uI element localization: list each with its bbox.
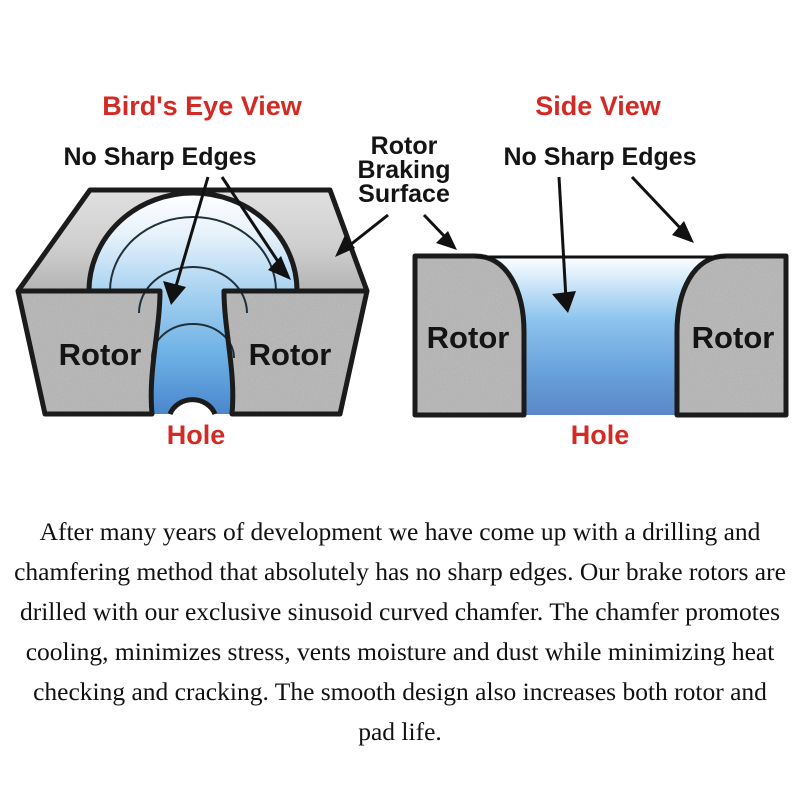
rotor-braking-surface-line3: Surface (358, 180, 450, 208)
left-rotor-label-right: Rotor (249, 337, 332, 372)
left-view-title: Bird's Eye View (102, 91, 303, 121)
right-rotor-label-right: Rotor (692, 320, 775, 355)
left-no-sharp-edges-label: No Sharp Edges (63, 143, 256, 171)
diagram-area: Rotor Rotor Bird's Eye View No Sharp Edg… (0, 0, 800, 490)
left-rotor-label-left: Rotor (59, 337, 142, 372)
description-paragraph: After many years of development we have … (0, 512, 800, 752)
right-hole-label: Hole (571, 420, 630, 450)
left-hole-label: Hole (167, 420, 226, 450)
braking-surface-arrowhead-right (436, 231, 457, 250)
right-rotor-label-left: Rotor (427, 320, 510, 355)
rotor-chamfer-infographic: Rotor Rotor Bird's Eye View No Sharp Edg… (0, 0, 800, 800)
left-view-group: Rotor Rotor Bird's Eye View No Sharp Edg… (18, 91, 457, 450)
right-no-sharp-edges-label: No Sharp Edges (503, 143, 696, 171)
right-view-title: Side View (535, 91, 662, 121)
right-no-sharp-edges-leader-2 (632, 177, 684, 232)
rotor-diagram-svg: Rotor Rotor Bird's Eye View No Sharp Edg… (0, 0, 800, 490)
right-view-group: Rotor Rotor Side View No Sharp Edges Hol… (415, 91, 786, 450)
